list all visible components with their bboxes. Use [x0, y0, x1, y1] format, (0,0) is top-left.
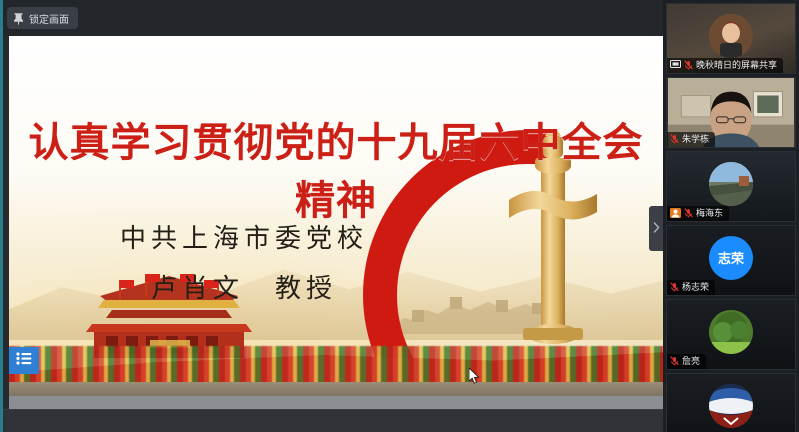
chevron-down-icon[interactable]	[723, 413, 739, 431]
lock-screen-button[interactable]: 锁定画面	[7, 7, 78, 29]
shared-slide: 认真学习贯彻党的十九届六中全会精神 中共上海市委党校 卢肖文 教授	[9, 36, 663, 396]
participant-tile[interactable]: 晚秋晴日的屏幕共享	[666, 3, 796, 74]
participant-name-badge: 晚秋晴日的屏幕共享	[667, 58, 783, 73]
shared-screen-stage: 锁定画面	[0, 0, 663, 432]
participant-name: 朱学栋	[682, 135, 709, 144]
lock-screen-label: 锁定画面	[29, 11, 69, 26]
avatar-initials: 志荣	[709, 236, 753, 280]
mic-muted-icon	[670, 134, 679, 146]
collapse-panel-handle[interactable]	[649, 206, 663, 251]
foreground-road	[9, 382, 663, 396]
mic-muted-icon	[670, 282, 679, 294]
participant-name-badge: 朱学栋	[667, 132, 715, 147]
avatar	[709, 14, 753, 58]
participant-name-badge: 杨志荣	[667, 280, 715, 295]
pin-icon	[13, 12, 24, 25]
participant-tile[interactable]: 志荣 杨志荣	[666, 225, 796, 296]
participants-rail[interactable]: 晚秋晴日的屏幕共享	[663, 0, 799, 432]
slide-subtitle-organization: 中共上海市委党校	[9, 218, 479, 255]
participant-name-badge: 詹亮	[667, 354, 706, 369]
flower-bed	[9, 346, 663, 386]
meeting-window: 锁定画面	[0, 0, 799, 432]
participant-tile[interactable]	[666, 373, 796, 432]
participant-name: 梅海东	[696, 209, 723, 218]
avatar	[709, 162, 753, 206]
desktop-taskbar-strip	[9, 396, 663, 409]
chevron-right-icon	[653, 220, 660, 238]
participant-name: 晚秋晴日的屏幕共享	[696, 61, 777, 70]
participant-tile[interactable]: 詹亮	[666, 299, 796, 370]
mic-muted-icon	[684, 60, 693, 72]
mic-muted-icon	[684, 208, 693, 220]
avatar	[709, 310, 753, 354]
participant-name-badge: 梅海东	[667, 206, 729, 221]
participant-name: 詹亮	[682, 357, 700, 366]
stage-top-bar	[0, 0, 663, 36]
stage-bottom-bar	[0, 409, 663, 432]
participant-tile[interactable]: 梅海东	[666, 151, 796, 222]
screen-share-icon	[670, 60, 681, 71]
participant-name: 杨志荣	[682, 283, 709, 292]
mic-muted-icon	[670, 356, 679, 368]
active-speaker-edge	[0, 0, 3, 432]
mouse-cursor-icon	[469, 368, 480, 389]
slide-menu-button[interactable]	[9, 347, 39, 374]
list-menu-icon	[16, 352, 32, 370]
participant-tile[interactable]: 朱学栋	[666, 77, 796, 148]
slide-subtitle-presenter: 卢肖文 教授	[9, 268, 479, 305]
user-icon	[670, 208, 681, 220]
slide-title: 认真学习贯彻党的十九届六中全会精神	[9, 110, 663, 226]
